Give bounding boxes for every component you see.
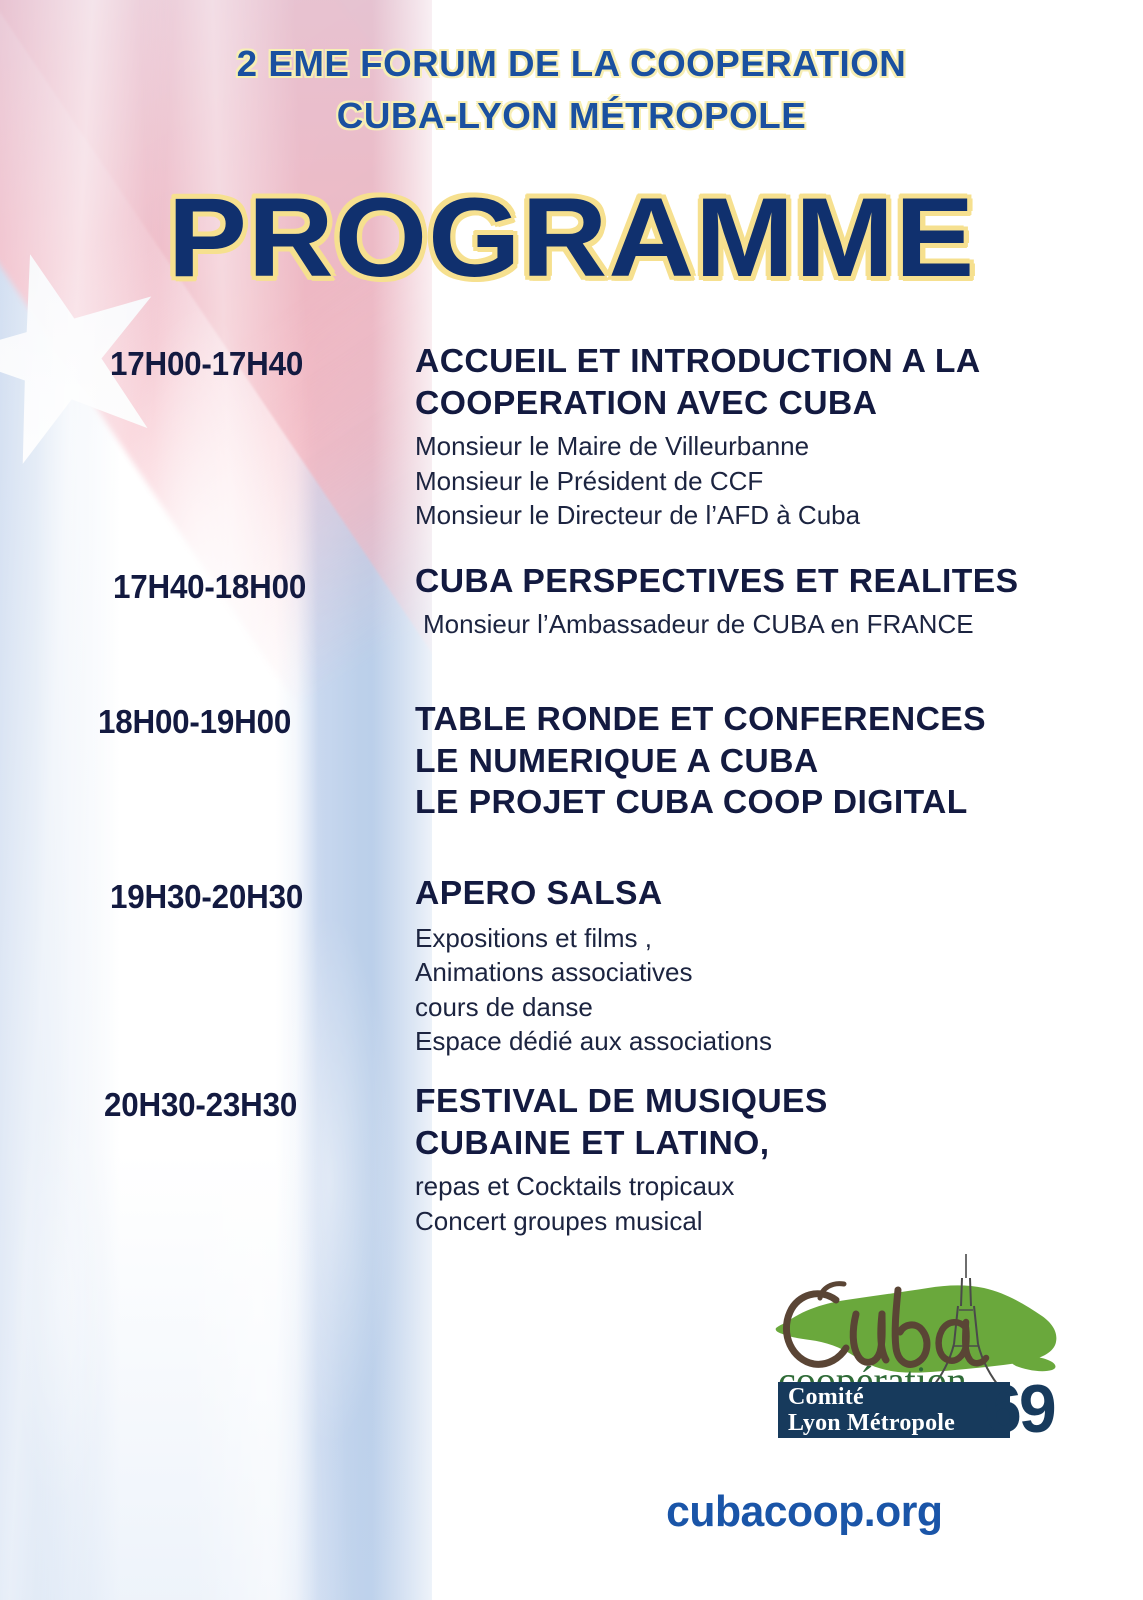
badge-label: Comité Lyon Métropole <box>788 1385 1013 1437</box>
schedule-sub-line: repas et Cocktails tropicaux <box>415 1169 820 1204</box>
schedule-title-line: TABLE RONDE ET CONFERENCES <box>415 698 986 740</box>
schedule-sub-line: Monsieur l’Ambassadeur de CUBA en FRANCE <box>415 607 1007 642</box>
schedule-time: 17H40-18H00 <box>113 568 306 606</box>
schedule-title-line: COOPERATION AVEC CUBA <box>415 382 981 424</box>
schedule-title-line: FESTIVAL DE MUSIQUES <box>415 1080 828 1122</box>
badge-number-69: 69 <box>984 1375 1054 1443</box>
badge-line-2: Lyon Métropole <box>788 1411 1013 1437</box>
schedule-sub-line: Concert groupes musical <box>415 1204 820 1239</box>
schedule-title-line: APERO SALSA <box>415 872 779 914</box>
schedule-sub-line: Monsieur le Maire de Villeurbanne <box>415 429 969 464</box>
schedule-time: 18H00-19H00 <box>98 703 291 741</box>
schedule-sub-line: Monsieur le Président de CCF <box>415 464 969 499</box>
website-url-text[interactable]: cubacoop.org <box>666 1487 942 1537</box>
schedule-title-line: LE PROJET CUBA COOP DIGITAL <box>415 781 986 823</box>
schedule-sub-line: Animations associatives <box>415 955 772 990</box>
schedule-sub-line: Espace dédié aux associations <box>415 1024 772 1059</box>
comite-lyon-metropole-badge: Comité Lyon Métropole 69 <box>778 1382 1063 1438</box>
website-url[interactable]: cubacoop.org <box>17 1487 1126 1537</box>
schedule-title-line: CUBA PERSPECTIVES ET REALITES <box>415 560 1018 602</box>
schedule-title-line: LE NUMERIQUE A CUBA <box>415 740 986 782</box>
schedule-sub-line: Monsieur le Directeur de l’AFD à Cuba <box>415 498 969 533</box>
cuba-island-east-tip <box>1010 1357 1055 1372</box>
schedule-time: 19H30-20H30 <box>110 878 303 916</box>
schedule-title-line: ACCUEIL ET INTRODUCTION A LA <box>415 340 981 382</box>
poster: 2 EME FORUM DE LA COOPERATION CUBA-LYON … <box>0 0 1143 1600</box>
schedule-time: 17H00-17H40 <box>110 345 303 383</box>
schedule-sub-line: cours de danse <box>415 990 772 1025</box>
schedule-sub-line: Expositions et films , <box>415 921 772 956</box>
schedule-time: 20H30-23H30 <box>104 1086 297 1124</box>
schedule-title-line: CUBAINE ET LATINO, <box>415 1122 828 1164</box>
badge-line-1: Comité <box>788 1385 1013 1411</box>
